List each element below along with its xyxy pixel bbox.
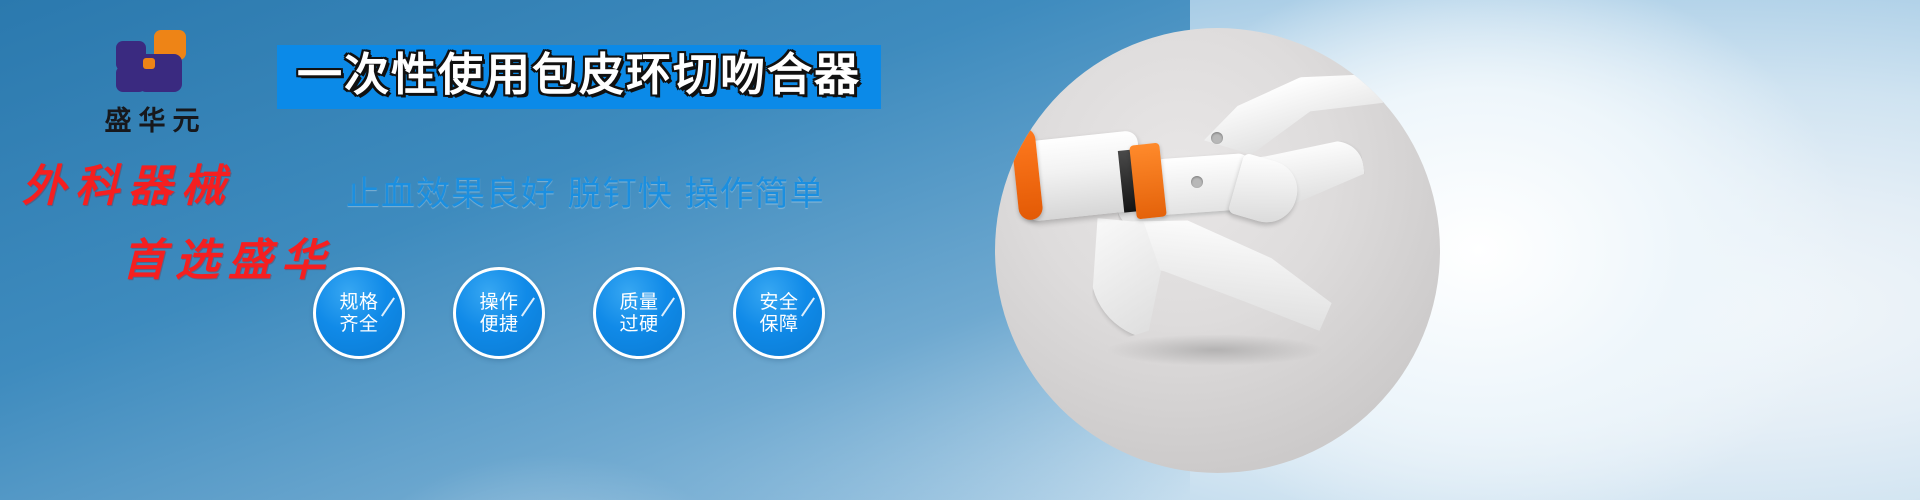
badge-slash-icon [661, 297, 675, 316]
feature-badge[interactable]: 操作便捷 [453, 267, 545, 359]
product-image [995, 28, 1440, 473]
feature-badge[interactable]: 安全保障 [733, 267, 825, 359]
badge-label-line2: 保障 [759, 313, 798, 335]
logo-block-orange-accent [143, 58, 155, 69]
feature-badge[interactable]: 规格齐全 [313, 267, 405, 359]
badge-label-line2: 齐全 [339, 313, 378, 335]
headline-band: 一次性使用包皮环切吻合器 [277, 45, 881, 109]
badge-label-line2: 便捷 [479, 313, 518, 335]
feature-subtitle: 止血效果良好 脱钉快 操作简单 [346, 166, 825, 215]
logo-block-purple-bottom [116, 66, 146, 92]
badge-slash-icon [521, 297, 535, 316]
badge-label: 质量过硬 [619, 291, 658, 336]
brand-name: 盛华元 [62, 99, 242, 138]
promo-banner: 盛华元 外科器械 首选盛华 一次性使用包皮环切吻合器 止血效果良好 脱钉快 操作… [0, 0, 1920, 500]
badge-label-line1: 质量 [619, 291, 658, 313]
slogan-line-2: 首选盛华 [22, 224, 352, 288]
badge-label: 规格齐全 [339, 291, 378, 336]
background-arc [269, 400, 829, 500]
device-pivot-hole [1191, 176, 1203, 188]
badge-label-line1: 操作 [479, 291, 518, 313]
badge-label-line1: 规格 [339, 291, 378, 313]
device-orange-band [1129, 143, 1167, 220]
badge-label-line1: 安全 [759, 291, 798, 313]
slogan-line-1: 外科器械 [22, 150, 352, 214]
device-pivot-hole [1211, 132, 1223, 144]
badge-label-line2: 过硬 [619, 313, 658, 335]
calligraphy-slogan: 外科器械 首选盛华 [22, 150, 352, 288]
brand-logo[interactable]: 盛华元 [62, 30, 242, 138]
feature-badge[interactable]: 质量过硬 [593, 267, 685, 359]
product-shadow [1065, 328, 1365, 372]
badge-slash-icon [381, 297, 395, 316]
product-headline: 一次性使用包皮环切吻合器 [297, 50, 861, 100]
shenghuayuan-logo-mark [116, 30, 188, 92]
badge-label: 操作便捷 [479, 291, 518, 336]
badge-slash-icon [801, 297, 815, 316]
feature-badge-list: 规格齐全 操作便捷 质量过硬 安全保障 [313, 267, 825, 359]
badge-label: 安全保障 [759, 291, 798, 336]
